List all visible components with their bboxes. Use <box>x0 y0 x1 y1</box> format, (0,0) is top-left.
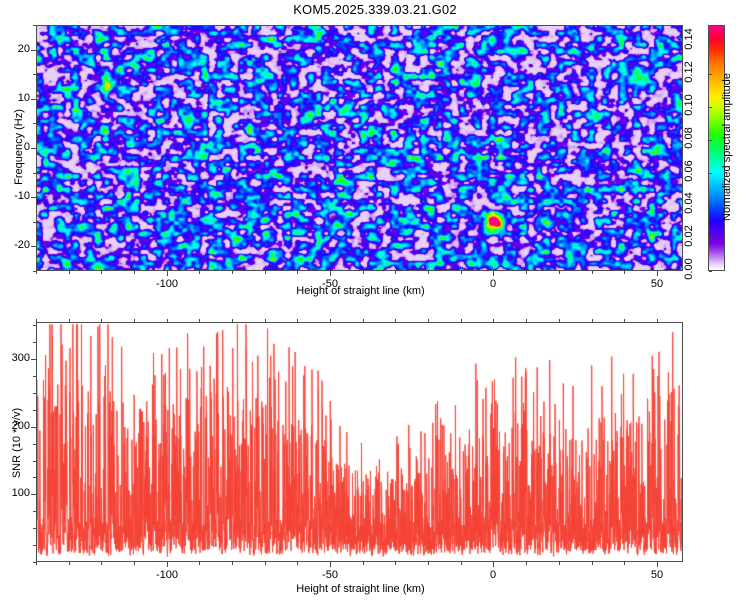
axis-tick-label: 0 <box>468 569 518 581</box>
axis-tick <box>167 562 168 565</box>
axis-tick <box>33 197 36 198</box>
axis-tick <box>709 271 712 272</box>
axis-tick <box>461 271 462 274</box>
colorbar-tick-label: 0.02 <box>683 219 695 253</box>
axis-tick <box>134 271 135 274</box>
axis-tick <box>232 562 233 565</box>
axis-tick <box>428 271 429 274</box>
spectrogram-plot-area <box>36 25 683 271</box>
axis-tick <box>265 562 266 565</box>
spectrogram-canvas <box>37 26 682 270</box>
axis-tick <box>709 205 712 206</box>
axis-tick <box>395 562 396 565</box>
colorbar-tick-label: 0.08 <box>683 121 695 155</box>
axis-tick-label: -100 <box>142 278 192 290</box>
axis-tick <box>363 319 364 322</box>
axis-tick <box>33 359 36 360</box>
axis-tick <box>559 319 560 322</box>
axis-tick <box>199 319 200 322</box>
axis-tick <box>526 319 527 322</box>
axis-tick <box>69 562 70 565</box>
axis-tick <box>36 562 37 565</box>
axis-tick <box>461 319 462 322</box>
axis-tick <box>101 271 102 274</box>
axis-tick <box>199 562 200 565</box>
axis-tick <box>592 562 593 565</box>
axis-tick <box>199 271 200 274</box>
axis-tick <box>69 319 70 322</box>
axis-tick-label: 50 <box>632 278 682 290</box>
axis-tick <box>33 99 36 100</box>
colorbar-tick-label: 0.12 <box>683 55 695 89</box>
axis-tick <box>33 477 36 478</box>
axis-tick <box>709 107 712 108</box>
axis-tick <box>493 271 494 274</box>
axis-tick <box>657 271 658 274</box>
colorbar-tick-label: 0.14 <box>683 22 695 56</box>
axis-tick-label: -50 <box>305 569 355 581</box>
axis-tick <box>232 319 233 322</box>
axis-tick <box>428 319 429 322</box>
axis-tick <box>33 342 36 343</box>
axis-tick-label: 100 <box>0 487 30 499</box>
axis-tick <box>493 319 494 322</box>
axis-tick-label: 200 <box>0 420 30 432</box>
axis-tick <box>657 319 658 322</box>
axis-tick <box>265 271 266 274</box>
axis-tick <box>363 562 364 565</box>
axis-tick <box>428 562 429 565</box>
axis-tick <box>69 271 70 274</box>
axis-tick <box>167 319 168 322</box>
axis-tick <box>395 271 396 274</box>
axis-tick <box>709 140 712 141</box>
axis-tick <box>624 319 625 322</box>
figure-root: KOM5.2025.339.03.21.G02 Frequency (Hz) H… <box>0 0 750 600</box>
snr-x-axis-label: Height of straight line (km) <box>253 583 468 595</box>
axis-tick <box>265 319 266 322</box>
axis-tick <box>493 562 494 565</box>
axis-tick <box>33 222 36 223</box>
axis-tick <box>33 74 36 75</box>
axis-tick <box>395 319 396 322</box>
axis-tick <box>33 545 36 546</box>
axis-tick <box>461 562 462 565</box>
snr-canvas <box>37 323 682 561</box>
axis-tick <box>33 494 36 495</box>
axis-tick-label: -20 <box>0 239 30 251</box>
axis-tick <box>33 173 36 174</box>
axis-tick <box>330 271 331 274</box>
axis-tick <box>559 562 560 565</box>
axis-tick <box>33 444 36 445</box>
axis-tick <box>330 319 331 322</box>
colorbar-axis-label: Normalized spectral amplitude <box>721 62 733 232</box>
axis-tick <box>592 271 593 274</box>
snr-plot-area <box>36 322 683 562</box>
colorbar-tick-label: 0.00 <box>683 252 695 286</box>
axis-tick <box>559 271 560 274</box>
axis-tick <box>297 562 298 565</box>
axis-tick <box>33 461 36 462</box>
axis-tick <box>101 319 102 322</box>
axis-tick <box>297 319 298 322</box>
colorbar-tick-label: 0.10 <box>683 88 695 122</box>
snr-y-axis-label: SNR (10 * v/v) <box>11 393 23 493</box>
axis-tick <box>33 376 36 377</box>
axis-tick <box>624 271 625 274</box>
axis-tick-label: -10 <box>0 190 30 202</box>
axis-tick-label: 50 <box>632 569 682 581</box>
axis-tick-label: 10 <box>0 92 30 104</box>
page-title: KOM5.2025.339.03.21.G02 <box>0 2 750 17</box>
axis-tick-label: -100 <box>142 569 192 581</box>
axis-tick <box>33 246 36 247</box>
axis-tick-label: -50 <box>305 278 355 290</box>
axis-tick <box>709 173 712 174</box>
axis-tick <box>297 271 298 274</box>
axis-tick <box>134 319 135 322</box>
axis-tick <box>709 41 712 42</box>
axis-tick <box>33 123 36 124</box>
axis-tick <box>33 427 36 428</box>
axis-tick <box>624 562 625 565</box>
axis-tick <box>101 562 102 565</box>
axis-tick-label: 0 <box>0 141 30 153</box>
colorbar-tick-label: 0.04 <box>683 186 695 220</box>
axis-tick <box>363 271 364 274</box>
axis-tick <box>33 325 36 326</box>
axis-tick <box>232 271 233 274</box>
axis-tick <box>657 562 658 565</box>
axis-tick <box>526 562 527 565</box>
axis-tick <box>36 271 37 274</box>
axis-tick-label: 0 <box>468 278 518 290</box>
axis-tick <box>33 528 36 529</box>
axis-tick <box>33 410 36 411</box>
axis-tick <box>526 271 527 274</box>
colorbar-tick-label: 0.06 <box>683 154 695 188</box>
axis-tick <box>592 319 593 322</box>
spectrogram-x-axis-label: Height of straight line (km) <box>253 285 468 297</box>
axis-tick-label: 300 <box>0 352 30 364</box>
axis-tick-label: 20 <box>0 43 30 55</box>
axis-tick <box>167 271 168 274</box>
axis-tick <box>36 319 37 322</box>
axis-tick <box>33 148 36 149</box>
axis-tick <box>33 511 36 512</box>
axis-tick <box>33 50 36 51</box>
axis-tick <box>33 25 36 26</box>
axis-tick <box>709 74 712 75</box>
axis-tick <box>330 562 331 565</box>
axis-tick <box>709 238 712 239</box>
axis-tick <box>33 393 36 394</box>
axis-tick <box>134 562 135 565</box>
